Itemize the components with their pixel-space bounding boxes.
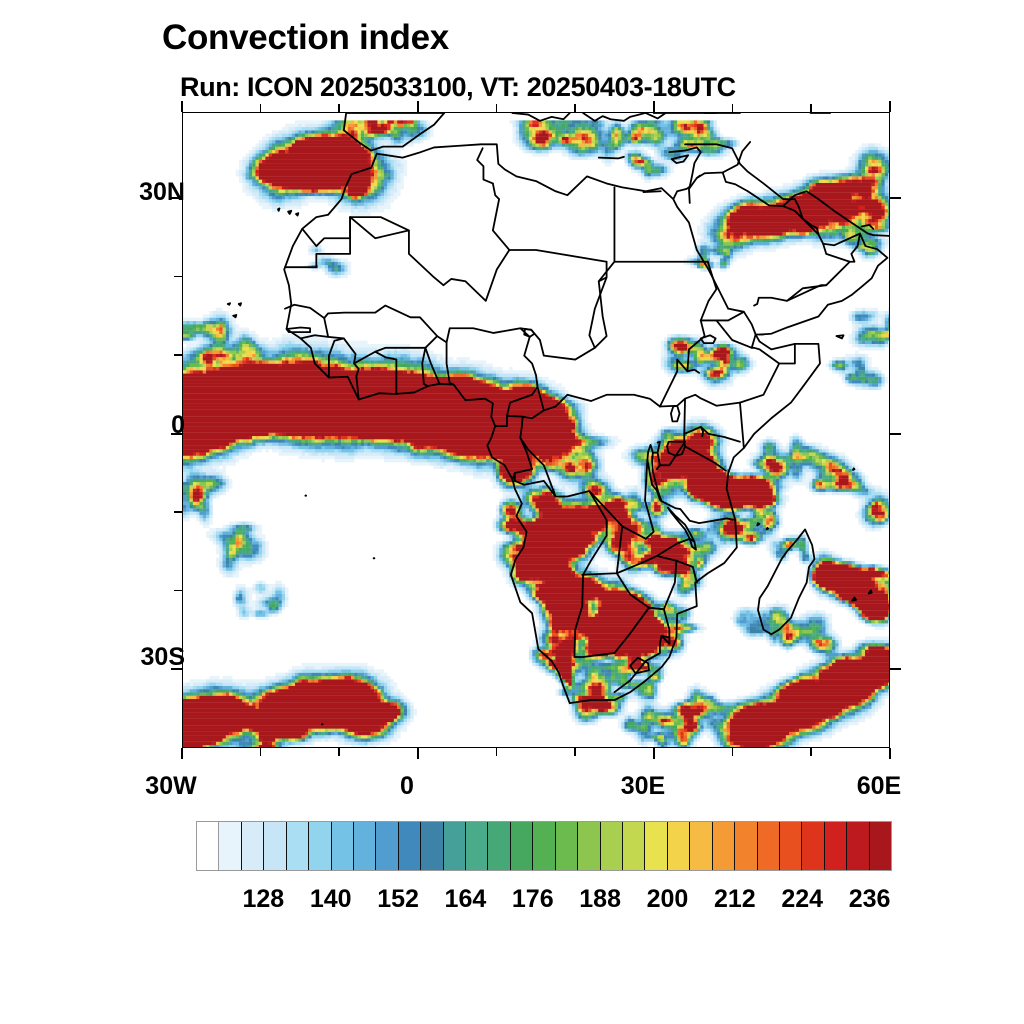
y-tick-label-0: 0: [95, 411, 185, 440]
colorbar-cell[interactable]: [488, 822, 510, 870]
map-plot-area[interactable]: [182, 112, 890, 748]
colorbar-cell[interactable]: [690, 822, 712, 870]
map-canvas: [183, 113, 889, 747]
colorbar-cell[interactable]: [668, 822, 690, 870]
x-minor-tick-top: [260, 104, 261, 112]
x-major-tick-top: [417, 101, 419, 112]
x-major-tick-top: [653, 101, 655, 112]
colorbar-cell[interactable]: [556, 822, 578, 870]
x-major-tick-top: [889, 101, 891, 112]
colorbar-cell[interactable]: [466, 822, 488, 870]
colorbar-cell[interactable]: [376, 822, 398, 870]
y-major-tick-right: [890, 197, 901, 199]
colorbar-cell[interactable]: [354, 822, 376, 870]
colorbar-cell[interactable]: [870, 822, 891, 870]
colorbar-cell[interactable]: [735, 822, 757, 870]
x-major-tick: [653, 748, 655, 759]
colorbar-cell[interactable]: [713, 822, 735, 870]
colorbar-cell[interactable]: [332, 822, 354, 870]
x-minor-tick-top: [496, 104, 497, 112]
y-tick-label-30n: 30N: [95, 178, 185, 207]
x-tick-label-0: 0: [347, 772, 467, 801]
colorbar-cell[interactable]: [758, 822, 780, 870]
x-tick-label-30w: 30W: [111, 772, 231, 801]
y-major-tick: [171, 197, 182, 199]
y-major-tick: [171, 433, 182, 435]
x-minor-tick-top: [338, 104, 339, 112]
colorbar-cell[interactable]: [197, 822, 219, 870]
colorbar-cell[interactable]: [511, 822, 533, 870]
x-minor-tick-top: [574, 104, 575, 112]
colorbar-cell[interactable]: [802, 822, 824, 870]
x-minor-tick: [810, 748, 811, 756]
colorbar-cell[interactable]: [601, 822, 623, 870]
colorbar-cell[interactable]: [242, 822, 264, 870]
x-tick-label-30e: 30E: [583, 772, 703, 801]
colorbar-cell[interactable]: [578, 822, 600, 870]
y-major-tick: [171, 668, 182, 670]
colorbar-cell[interactable]: [399, 822, 421, 870]
colorbar-cell[interactable]: [645, 822, 667, 870]
x-major-tick-top: [181, 101, 183, 112]
colorbar-cell[interactable]: [780, 822, 802, 870]
y-major-tick-right: [890, 668, 901, 670]
colorbar-cell[interactable]: [309, 822, 331, 870]
colorbar-cell[interactable]: [847, 822, 869, 870]
x-minor-tick: [574, 748, 575, 756]
colorbar-cell[interactable]: [623, 822, 645, 870]
x-minor-tick: [260, 748, 261, 756]
y-minor-tick: [174, 590, 182, 591]
y-minor-tick: [174, 511, 182, 512]
y-minor-tick: [174, 354, 182, 355]
y-major-tick-right: [890, 433, 901, 435]
colorbar[interactable]: [196, 821, 892, 871]
figure-root: Convection index Run: ICON 2025033100, V…: [0, 0, 1024, 1024]
colorbar-cell[interactable]: [825, 822, 847, 870]
y-minor-tick: [174, 276, 182, 277]
x-minor-tick: [732, 748, 733, 756]
colorbar-cell[interactable]: [444, 822, 466, 870]
x-minor-tick: [496, 748, 497, 756]
x-minor-tick-top: [810, 104, 811, 112]
colorbar-cell[interactable]: [264, 822, 286, 870]
colorbar-cell[interactable]: [287, 822, 309, 870]
page-title: Convection index: [162, 18, 449, 58]
x-minor-tick-top: [732, 104, 733, 112]
x-major-tick: [889, 748, 891, 759]
colorbar-tick-label: 236: [815, 885, 925, 914]
colorbar-cell[interactable]: [219, 822, 241, 870]
x-tick-label-60e: 60E: [819, 772, 939, 801]
x-major-tick: [417, 748, 419, 759]
x-minor-tick: [338, 748, 339, 756]
run-valid-time-subtitle: Run: ICON 2025033100, VT: 20250403-18UTC: [180, 72, 736, 103]
x-major-tick: [181, 748, 183, 759]
colorbar-cell[interactable]: [421, 822, 443, 870]
colorbar-cell[interactable]: [533, 822, 555, 870]
